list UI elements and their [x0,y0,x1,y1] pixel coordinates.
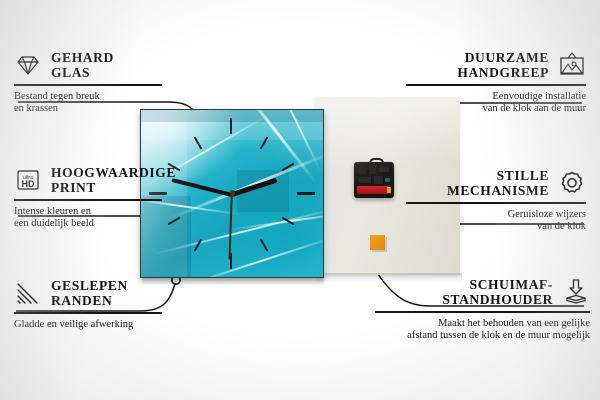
mechanism-battery [357,186,388,194]
feature-divider [406,84,586,86]
feature-title-2: STANDHOUDER [442,292,553,307]
feature-title-2: HANDGREEP [457,65,549,80]
feature-title-2: RANDEN [51,293,128,308]
feature-schuimafstandhouder: SCHUIMAF- STANDHOUDER Maakt het behouden… [375,277,590,343]
product-photo [140,95,370,295]
feature-title-2: MECHANISME [447,183,549,198]
feature-desc-1: Eenvoudige installatie [406,91,586,104]
diamond-icon [14,51,42,79]
feature-title: SCHUIMAF- [442,277,553,292]
clock-mechanism [354,158,394,198]
feature-divider [375,311,590,313]
feature-title-2: PRINT [51,180,176,195]
feature-title: STILLE [447,168,549,183]
feature-divider [406,202,586,204]
feature-desc-1: Intense kleuren en [14,206,162,219]
feature-title: DUURZAME [457,50,549,65]
feature-title: GEHARD [51,50,114,65]
feature-desc-1: Maakt het behouden van een gelijke [375,318,590,331]
feature-title: GESLEPEN [51,278,128,293]
feature-desc-1: Gladde en veilige afwerking [14,319,162,332]
feature-desc-1: Bestand tegen breuk [14,91,162,104]
foam-spacer-icon [562,278,590,306]
ultra-hd-icon: ultra HD [14,166,42,194]
feature-desc-2: en krassen [14,103,162,116]
feature-title: HOOGWAARDIGE [51,165,176,180]
feature-duurzame-handgreep: DUURZAME HANDGREEP Eenvoudige installati… [406,50,586,116]
feature-gehard-glas: GEHARD GLAS Bestand tegen breuk en krass… [14,50,162,116]
mechanism-body [354,162,394,198]
feature-divider [14,84,162,86]
feature-desc-2: een duidelijk beeld [14,218,162,231]
foam-spacer-pad [370,235,385,250]
feature-stille-mechanisme: STILLE MECHANISME Geruisloze wijzers van… [406,168,586,234]
feature-hoogwaardige-print: ultra HD HOOGWAARDIGE PRINT Intense kleu… [14,165,162,231]
feature-divider [14,199,162,201]
feature-divider [14,312,162,314]
svg-text:HD: HD [22,179,35,189]
gear-icon [558,169,586,197]
feature-desc-2: afstand tussen de klok en de muur mogeli… [375,330,590,343]
infographic-canvas: GEHARD GLAS Bestand tegen breuk en krass… [0,0,600,400]
feature-desc-2: van de klok [406,221,586,234]
feature-desc-2: van de klok aan de muur [406,103,586,116]
feature-geslepen-randen: GESLEPEN RANDEN Gladde en veilige afwerk… [14,278,162,331]
picture-frame-icon [558,51,586,79]
feature-desc-1: Geruisloze wijzers [406,209,586,222]
feature-title-2: GLAS [51,65,114,80]
beveled-edges-icon [14,279,42,307]
